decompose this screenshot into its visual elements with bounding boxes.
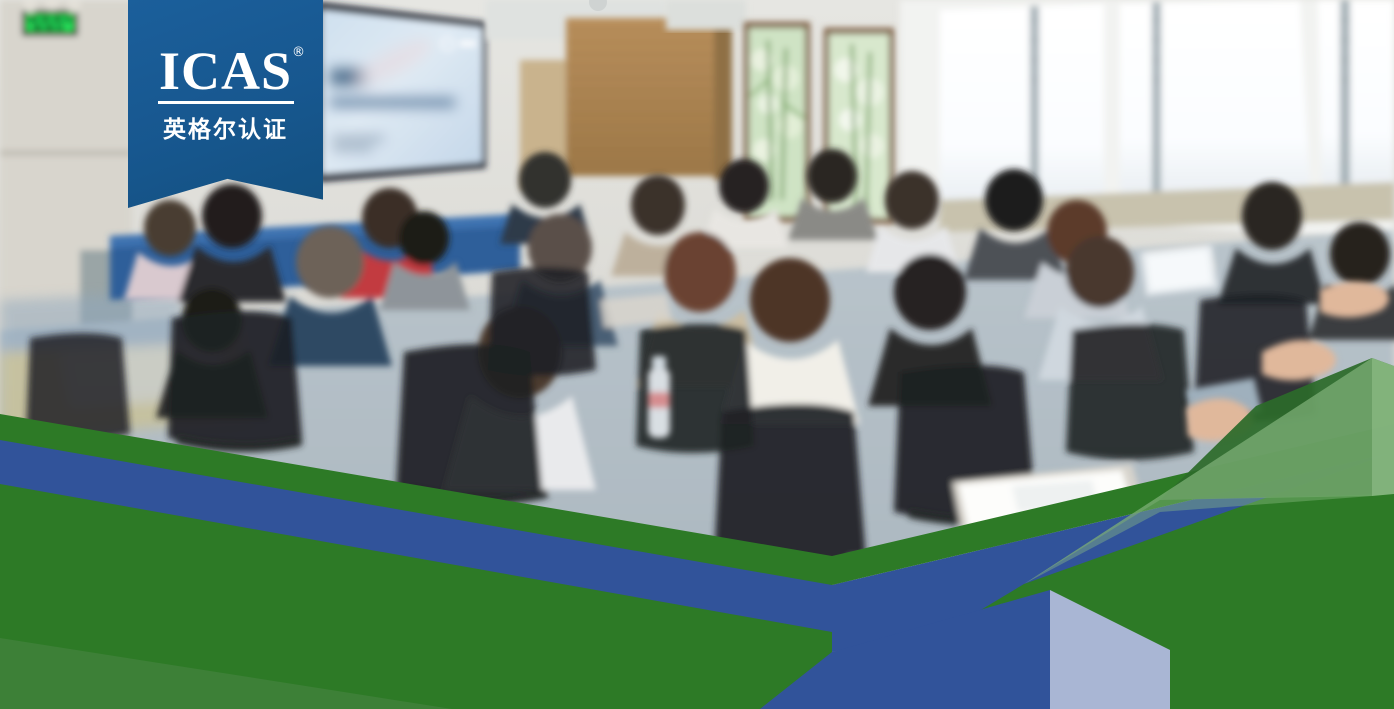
exit-sign bbox=[22, 10, 78, 36]
banner-canvas: ICAS ® 英格尔认证 Seminar attendees seated in… bbox=[0, 0, 1394, 709]
logo-divider bbox=[158, 101, 294, 104]
window-wall bbox=[900, 0, 1394, 240]
logo-wordmark: ICAS bbox=[159, 44, 292, 98]
logo-chinese-name: 英格尔认证 bbox=[163, 110, 288, 144]
registered-trademark-icon: ® bbox=[292, 46, 305, 59]
icas-logo-panel[interactable]: ICAS ® 英格尔认证 bbox=[128, 0, 323, 208]
projection-screen bbox=[318, 2, 486, 182]
logo-wordmark-group: ICAS ® bbox=[159, 44, 292, 98]
tablet-device bbox=[1140, 244, 1218, 296]
notepad bbox=[848, 548, 998, 610]
